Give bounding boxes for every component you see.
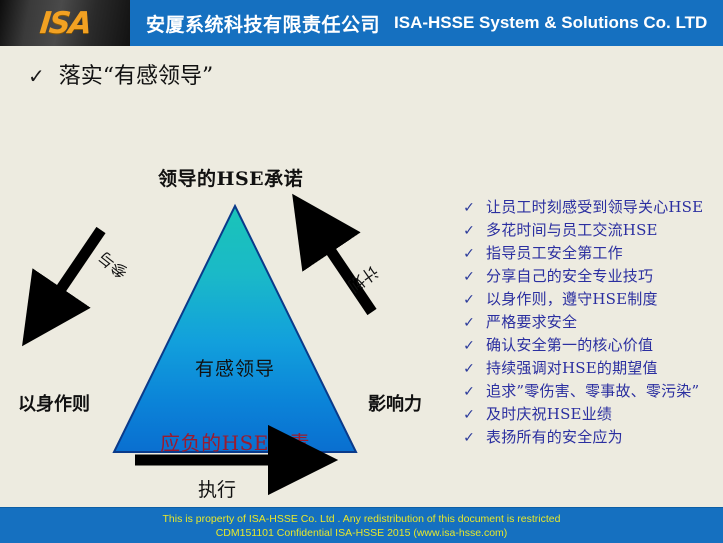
arrow-left-down (48, 230, 101, 308)
list-item: ✓ 持续强调对HSE的期望值 (452, 357, 720, 379)
check-icon: ✓ (452, 265, 486, 287)
list-item-label: 追求”零伤害、零事故、零污染” (486, 380, 720, 402)
isa-logo: ISA (0, 0, 130, 46)
list-item-label: 严格要求安全 (486, 311, 720, 333)
list-item-label: 持续强调对HSE的期望值 (486, 357, 720, 379)
triangle-svg (110, 202, 360, 462)
list-item: ✓ 以身作则，遵守HSE制度 (452, 288, 720, 310)
slide-header: ISA 安厦系统科技有限责任公司 ISA-HSSE System & Solut… (0, 0, 723, 46)
page-title-text: 落实“有感领导” (59, 58, 214, 90)
list-item: ✓ 让员工时刻感受到领导关心HSE (452, 196, 720, 218)
check-icon: ✓ (452, 357, 486, 379)
list-item-label: 表扬所有的安全应为 (486, 426, 720, 448)
check-icon: ✓ (452, 311, 486, 333)
triangle-middle-label: 有感领导 (110, 354, 360, 381)
footer-line-2: CDM151101 Confidential ISA-HSSE 2015 (ww… (216, 526, 508, 540)
list-item-label: 及时庆祝HSE业绩 (486, 403, 720, 425)
list-item-label: 指导员工安全第工作 (486, 242, 720, 264)
list-item-label: 以身作则，遵守HSE制度 (486, 288, 720, 310)
isa-logo-text: ISA (38, 6, 92, 41)
triangle-right-label: 影响力 (368, 390, 422, 416)
triangle-bottom-label: 执行 (198, 475, 236, 502)
list-item: ✓ 严格要求安全 (452, 311, 720, 333)
triangle-top-label: 领导的HSE承诺 (158, 164, 303, 191)
check-icon: ✓ (452, 426, 486, 448)
header-title-bar: 安厦系统科技有限责任公司 ISA-HSSE System & Solutions… (130, 0, 723, 46)
triangle-lower-label: 应负的HSE职责 (110, 427, 360, 456)
triangle-shape: 有感领导 应负的HSE职责 (110, 202, 360, 462)
footer-line-1: This is property of ISA-HSSE Co. Ltd . A… (162, 512, 560, 526)
check-icon: ✓ (452, 403, 486, 425)
page-title: ✓ 落实“有感领导” (28, 58, 213, 90)
list-item: ✓ 确认安全第一的核心价值 (452, 334, 720, 356)
list-item: ✓ 分享自己的安全专业技巧 (452, 265, 720, 287)
list-item: ✓ 及时庆祝HSE业绩 (452, 403, 720, 425)
company-name-cn: 安厦系统科技有限责任公司 (146, 10, 380, 37)
list-item-label: 多花时间与员工交流HSE (486, 219, 720, 241)
check-icon: ✓ (452, 334, 486, 356)
check-icon: ✓ (452, 219, 486, 241)
list-item: ✓ 追求”零伤害、零事故、零污染” (452, 380, 720, 402)
leadership-triangle-diagram: 领导的HSE承诺 有感领导 应负的HSE职责 (0, 150, 450, 520)
list-item-label: 分享自己的安全专业技巧 (486, 265, 720, 287)
company-name-en: ISA-HSSE System & Solutions Co. LTD (394, 13, 707, 33)
triangle-left-label: 以身作则 (18, 390, 90, 416)
list-item-label: 让员工时刻感受到领导关心HSE (486, 196, 720, 218)
list-item-label: 确认安全第一的核心价值 (486, 334, 720, 356)
check-icon: ✓ (452, 196, 486, 218)
slide-footer: This is property of ISA-HSSE Co. Ltd . A… (0, 507, 723, 543)
bullet-list: ✓ 让员工时刻感受到领导关心HSE ✓ 多花时间与员工交流HSE ✓ 指导员工安… (452, 196, 720, 449)
check-icon: ✓ (452, 380, 486, 402)
slide-canvas: ISA 安厦系统科技有限责任公司 ISA-HSSE System & Solut… (0, 0, 723, 543)
list-item: ✓ 表扬所有的安全应为 (452, 426, 720, 448)
list-item: ✓ 多花时间与员工交流HSE (452, 219, 720, 241)
list-item: ✓ 指导员工安全第工作 (452, 242, 720, 264)
check-icon: ✓ (28, 67, 45, 87)
check-icon: ✓ (452, 242, 486, 264)
check-icon: ✓ (452, 288, 486, 310)
